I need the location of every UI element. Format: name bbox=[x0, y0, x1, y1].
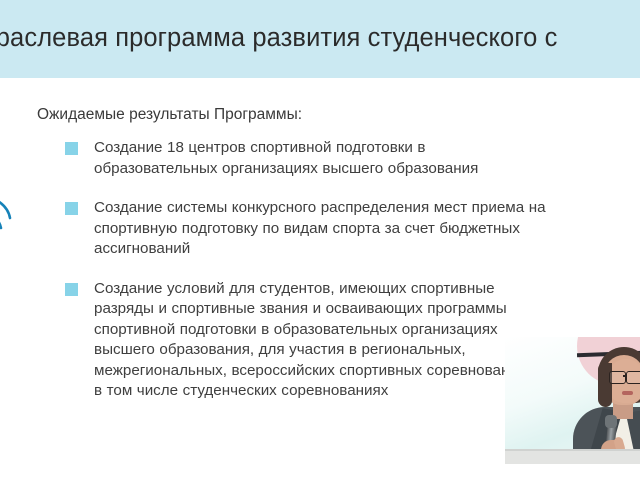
square-bullet-icon bbox=[65, 142, 78, 155]
glasses-icon bbox=[609, 371, 626, 384]
list-item-text: Создание системы конкурсного распределен… bbox=[94, 198, 549, 260]
microphone-head-icon bbox=[605, 415, 617, 428]
list-item-text: Создание 18 центров спортивной подготовк… bbox=[94, 138, 549, 179]
expected-results-heading: Ожидаемые результаты Программы: bbox=[37, 104, 302, 125]
glasses-bridge-icon bbox=[623, 375, 627, 377]
presentation-slide: траслевая программа развития студенческо… bbox=[0, 0, 640, 480]
slide-title-banner: траслевая программа развития студенческо… bbox=[0, 0, 640, 78]
video-table-front bbox=[505, 464, 640, 480]
square-bullet-icon bbox=[65, 202, 78, 215]
speaker-video-overlay[interactable] bbox=[505, 337, 640, 480]
speaker-hair-side bbox=[598, 363, 612, 407]
glasses-icon bbox=[626, 371, 640, 384]
speaker-lips bbox=[622, 391, 633, 395]
square-bullet-icon bbox=[65, 283, 78, 296]
slide-title: траслевая программа развития студенческо… bbox=[0, 22, 640, 54]
list-item: Создание системы конкурсного распределен… bbox=[37, 198, 597, 260]
list-item-text: Создание условий для студентов, имеющих … bbox=[94, 279, 549, 402]
list-item: Создание 18 центров спортивной подготовк… bbox=[37, 138, 597, 179]
